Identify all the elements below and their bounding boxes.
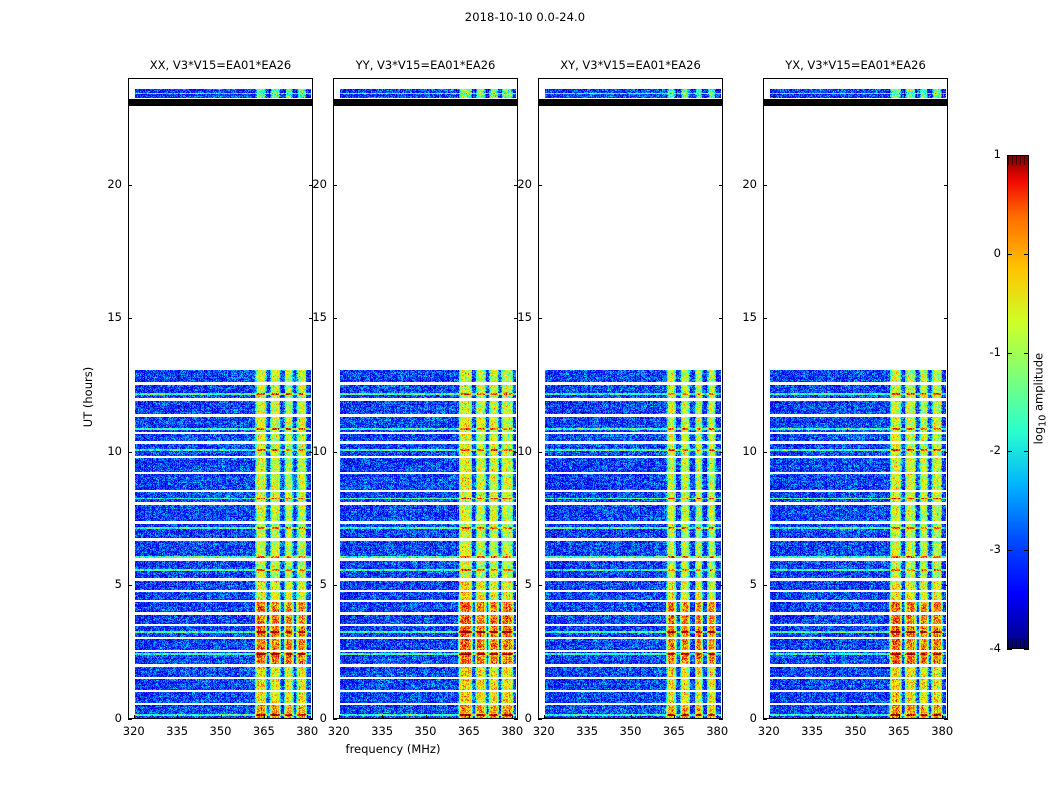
y-tick-label-2-1: 5	[500, 577, 532, 591]
colorbar-tick-label-5: -4	[971, 641, 1001, 655]
y-tick-r-3-3	[944, 318, 948, 319]
colorbar-tick-label-4: -3	[971, 542, 1001, 556]
y-tick-3-4	[763, 185, 767, 186]
x-tick-label-3-1: 335	[792, 724, 832, 738]
y-tick-label-0-3: 15	[90, 310, 122, 324]
x-tick-label-3-2: 350	[836, 724, 876, 738]
x-tick-label-1-0: 320	[319, 724, 359, 738]
y-tick-label-3-0: 0	[725, 711, 757, 725]
waterfall-image-xy	[539, 79, 723, 719]
panel-title-yy: YY, V3*V15=EA01*EA26	[333, 58, 518, 72]
colorbar-tick-3	[1007, 451, 1012, 452]
y-tick-2-0	[538, 719, 542, 720]
colorbar-extend-bottom	[1008, 639, 1028, 648]
colorbar-tick-1	[1007, 254, 1012, 255]
y-tick-2-1	[538, 585, 542, 586]
colorbar-tick-r-0	[1024, 155, 1029, 156]
plot-area-xx	[129, 79, 312, 718]
y-tick-1-0	[333, 719, 337, 720]
colorbar-tick-5	[1007, 649, 1012, 650]
colorbar-tick-2	[1007, 353, 1012, 354]
y-tick-r-3-0	[944, 719, 948, 720]
y-tick-0-1	[128, 585, 132, 586]
colorbar-tick-4	[1007, 550, 1012, 551]
y-tick-label-3-4: 20	[725, 177, 757, 191]
y-tick-0-0	[128, 719, 132, 720]
x-tick-0-1	[177, 715, 178, 719]
panel-title-xy: XY, V3*V15=EA01*EA26	[538, 58, 723, 72]
x-tick-label-0-1: 335	[157, 724, 197, 738]
x-tick-label-1-1: 335	[362, 724, 402, 738]
x-tick-2-2	[631, 715, 632, 719]
panel-title-yx: YX, V3*V15=EA01*EA26	[763, 58, 948, 72]
y-tick-label-1-1: 5	[295, 577, 327, 591]
y-tick-r-3-1	[944, 585, 948, 586]
x-tick-label-1-3: 365	[449, 724, 489, 738]
x-tick-label-2-2: 350	[611, 724, 651, 738]
y-tick-label-0-2: 10	[90, 444, 122, 458]
x-tick-0-3	[264, 715, 265, 719]
x-tick-label-2-0: 320	[524, 724, 564, 738]
x-tick-3-1	[812, 715, 813, 719]
x-tick-label-3-0: 320	[749, 724, 789, 738]
x-tick-1-1	[382, 715, 383, 719]
x-tick-label-2-1: 335	[567, 724, 607, 738]
x-tick-1-0	[339, 715, 340, 719]
y-tick-label-2-2: 10	[500, 444, 532, 458]
colorbar-extend-top	[1008, 156, 1028, 165]
x-tick-2-0	[544, 715, 545, 719]
y-tick-label-2-4: 20	[500, 177, 532, 191]
y-tick-r-2-3	[719, 318, 723, 319]
x-tick-label-0-3: 365	[244, 724, 284, 738]
waterfall-panel-xx[interactable]	[128, 78, 313, 719]
y-tick-r-2-2	[719, 452, 723, 453]
y-tick-0-2	[128, 452, 132, 453]
x-tick-1-2	[426, 715, 427, 719]
y-tick-label-3-2: 10	[725, 444, 757, 458]
colorbar-tick-r-3	[1024, 451, 1029, 452]
x-tick-label-1-2: 350	[406, 724, 446, 738]
y-tick-3-0	[763, 719, 767, 720]
y-tick-label-2-0: 0	[500, 711, 532, 725]
colorbar-tick-label-0: 1	[971, 147, 1001, 161]
x-tick-label-3-3: 365	[879, 724, 919, 738]
y-tick-label-1-0: 0	[295, 711, 327, 725]
y-tick-2-4	[538, 185, 542, 186]
figure-canvas: 2018-10-10 0.0-24.0 XX, V3*V15=EA01*EA26…	[0, 0, 1050, 800]
x-tick-2-3	[674, 715, 675, 719]
y-tick-0-4	[128, 185, 132, 186]
y-tick-label-2-3: 15	[500, 310, 532, 324]
y-tick-3-3	[763, 318, 767, 319]
x-tick-0-0	[134, 715, 135, 719]
y-tick-2-3	[538, 318, 542, 319]
plot-area-yx	[764, 79, 947, 718]
waterfall-panel-yy[interactable]	[333, 78, 518, 719]
x-tick-3-3	[899, 715, 900, 719]
y-tick-r-2-4	[719, 185, 723, 186]
y-tick-r-3-4	[944, 185, 948, 186]
colorbar-tick-label-1: 0	[971, 246, 1001, 260]
colorbar-tick-label-3: -2	[971, 443, 1001, 457]
x-tick-3-0	[769, 715, 770, 719]
y-tick-1-2	[333, 452, 337, 453]
y-tick-label-3-3: 15	[725, 310, 757, 324]
x-tick-label-2-3: 365	[654, 724, 694, 738]
y-tick-label-3-1: 5	[725, 577, 757, 591]
y-tick-label-0-4: 20	[90, 177, 122, 191]
waterfall-image-yx	[764, 79, 948, 719]
y-tick-r-2-0	[719, 719, 723, 720]
x-axis-label: frequency (MHz)	[0, 742, 918, 756]
y-tick-3-1	[763, 585, 767, 586]
figure-suptitle: 2018-10-10 0.0-24.0	[0, 10, 1050, 24]
plot-area-xy	[539, 79, 722, 718]
colorbar-tick-r-1	[1024, 254, 1029, 255]
colorbar-tick-r-4	[1024, 550, 1029, 551]
colorbar-tick-r-5	[1024, 649, 1029, 650]
y-tick-label-1-3: 15	[295, 310, 327, 324]
waterfall-image-xx	[129, 79, 313, 719]
y-tick-0-3	[128, 318, 132, 319]
x-tick-label-0-2: 350	[201, 724, 241, 738]
x-tick-3-2	[856, 715, 857, 719]
plot-area-yy	[334, 79, 517, 718]
y-tick-label-1-2: 10	[295, 444, 327, 458]
waterfall-image-yy	[334, 79, 518, 719]
x-tick-label-3-4: 380	[922, 724, 962, 738]
colorbar-tick-r-2	[1024, 353, 1029, 354]
y-tick-r-3-2	[944, 452, 948, 453]
panel-title-xx: XX, V3*V15=EA01*EA26	[128, 58, 313, 72]
x-tick-1-3	[469, 715, 470, 719]
x-tick-label-2-4: 380	[697, 724, 737, 738]
colorbar-label: log10 amplitude	[1031, 319, 1048, 479]
x-tick-0-2	[221, 715, 222, 719]
y-tick-label-0-0: 0	[90, 711, 122, 725]
y-tick-r-2-1	[719, 585, 723, 586]
waterfall-panel-xy[interactable]	[538, 78, 723, 719]
x-tick-2-1	[587, 715, 588, 719]
colorbar-tick-label-2: -1	[971, 345, 1001, 359]
y-tick-1-3	[333, 318, 337, 319]
y-axis-label: UT (hours)	[81, 307, 95, 487]
waterfall-panel-yx[interactable]	[763, 78, 948, 719]
y-tick-2-2	[538, 452, 542, 453]
colorbar-tick-0	[1007, 155, 1012, 156]
y-tick-label-1-4: 20	[295, 177, 327, 191]
y-tick-label-0-1: 5	[90, 577, 122, 591]
y-tick-1-4	[333, 185, 337, 186]
x-tick-label-0-0: 320	[114, 724, 154, 738]
y-tick-3-2	[763, 452, 767, 453]
colorbar[interactable]	[1007, 155, 1029, 649]
y-tick-1-1	[333, 585, 337, 586]
